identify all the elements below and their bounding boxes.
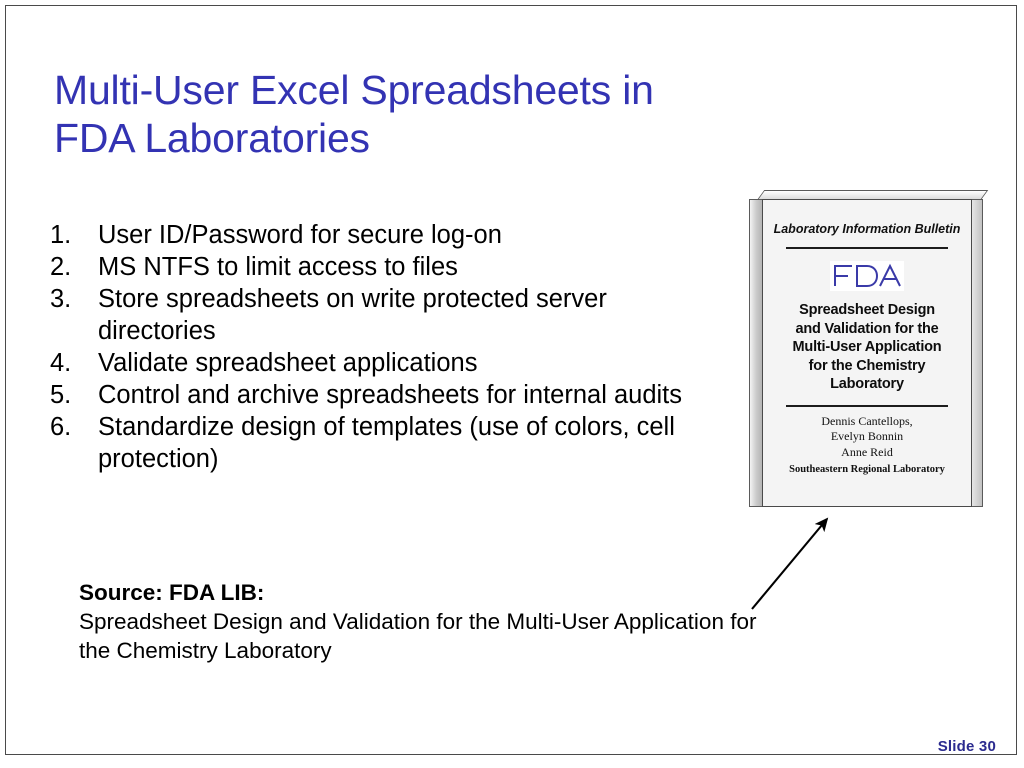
book-front-face: Laboratory Information Bulletin Spreadsh… bbox=[762, 199, 972, 507]
list-item-number: 2. bbox=[46, 251, 98, 283]
book-spine bbox=[749, 199, 763, 507]
book-organization: Southeastern Regional Laboratory bbox=[789, 462, 945, 478]
list-item: 2. MS NTFS to limit access to files bbox=[46, 251, 706, 283]
source-label: Source: FDA LIB: bbox=[79, 578, 779, 607]
list-item-label: User ID/Password for secure log-on bbox=[98, 219, 706, 251]
list-item-number: 1. bbox=[46, 219, 98, 251]
book-divider-bottom bbox=[786, 405, 948, 407]
book-author-3: Anne Reid bbox=[789, 445, 945, 461]
book-cover-image: Laboratory Information Bulletin Spreadsh… bbox=[749, 190, 989, 515]
fda-logo-icon bbox=[830, 261, 904, 291]
title-line-1: Multi-User Excel Spreadsheets in bbox=[54, 66, 694, 114]
list-item-label: Control and archive spreadsheets for int… bbox=[98, 379, 706, 411]
list-item-number: 4. bbox=[46, 347, 98, 379]
book-divider-top bbox=[786, 247, 948, 249]
book-title-line-3: Multi-User Application bbox=[793, 338, 942, 357]
list-item-number: 5. bbox=[46, 379, 98, 411]
page-title: Multi-User Excel Spreadsheets in FDA Lab… bbox=[54, 66, 694, 162]
book-author-2: Evelyn Bonnin bbox=[789, 429, 945, 445]
book-title-line-5: Laboratory bbox=[793, 375, 942, 394]
source-body: Spreadsheet Design and Validation for th… bbox=[79, 607, 779, 665]
list-item: 4. Validate spreadsheet applications bbox=[46, 347, 706, 379]
book-header-text: Laboratory Information Bulletin bbox=[774, 222, 961, 236]
source-to-book-arrow bbox=[735, 505, 845, 620]
book-title-line-4: for the Chemistry bbox=[793, 357, 942, 376]
numbered-list: 1. User ID/Password for secure log-on 2.… bbox=[46, 219, 706, 475]
book-title: Spreadsheet Design and Validation for th… bbox=[793, 301, 942, 394]
list-item-label: Standardize design of templates (use of … bbox=[98, 411, 706, 475]
list-item-label: Store spreadsheets on write protected se… bbox=[98, 283, 706, 347]
list-item: 1. User ID/Password for secure log-on bbox=[46, 219, 706, 251]
list-item-number: 6. bbox=[46, 411, 98, 443]
list-item: 6. Standardize design of templates (use … bbox=[46, 411, 706, 475]
book-author-1: Dennis Cantellops, bbox=[789, 414, 945, 430]
slide-number: Slide 30 bbox=[938, 738, 996, 755]
book-authors: Dennis Cantellops, Evelyn Bonnin Anne Re… bbox=[789, 414, 945, 478]
book-page-edge bbox=[971, 199, 983, 507]
list-item-number: 3. bbox=[46, 283, 98, 315]
list-item: 3. Store spreadsheets on write protected… bbox=[46, 283, 706, 347]
list-item-label: MS NTFS to limit access to files bbox=[98, 251, 706, 283]
title-line-2: FDA Laboratories bbox=[54, 114, 694, 162]
slide-canvas: Multi-User Excel Spreadsheets in FDA Lab… bbox=[0, 0, 1024, 768]
source-citation: Source: FDA LIB: Spreadsheet Design and … bbox=[79, 578, 779, 665]
list-item-label: Validate spreadsheet applications bbox=[98, 347, 706, 379]
book-title-line-1: Spreadsheet Design bbox=[793, 301, 942, 320]
list-item: 5. Control and archive spreadsheets for … bbox=[46, 379, 706, 411]
book-title-line-2: and Validation for the bbox=[793, 320, 942, 339]
